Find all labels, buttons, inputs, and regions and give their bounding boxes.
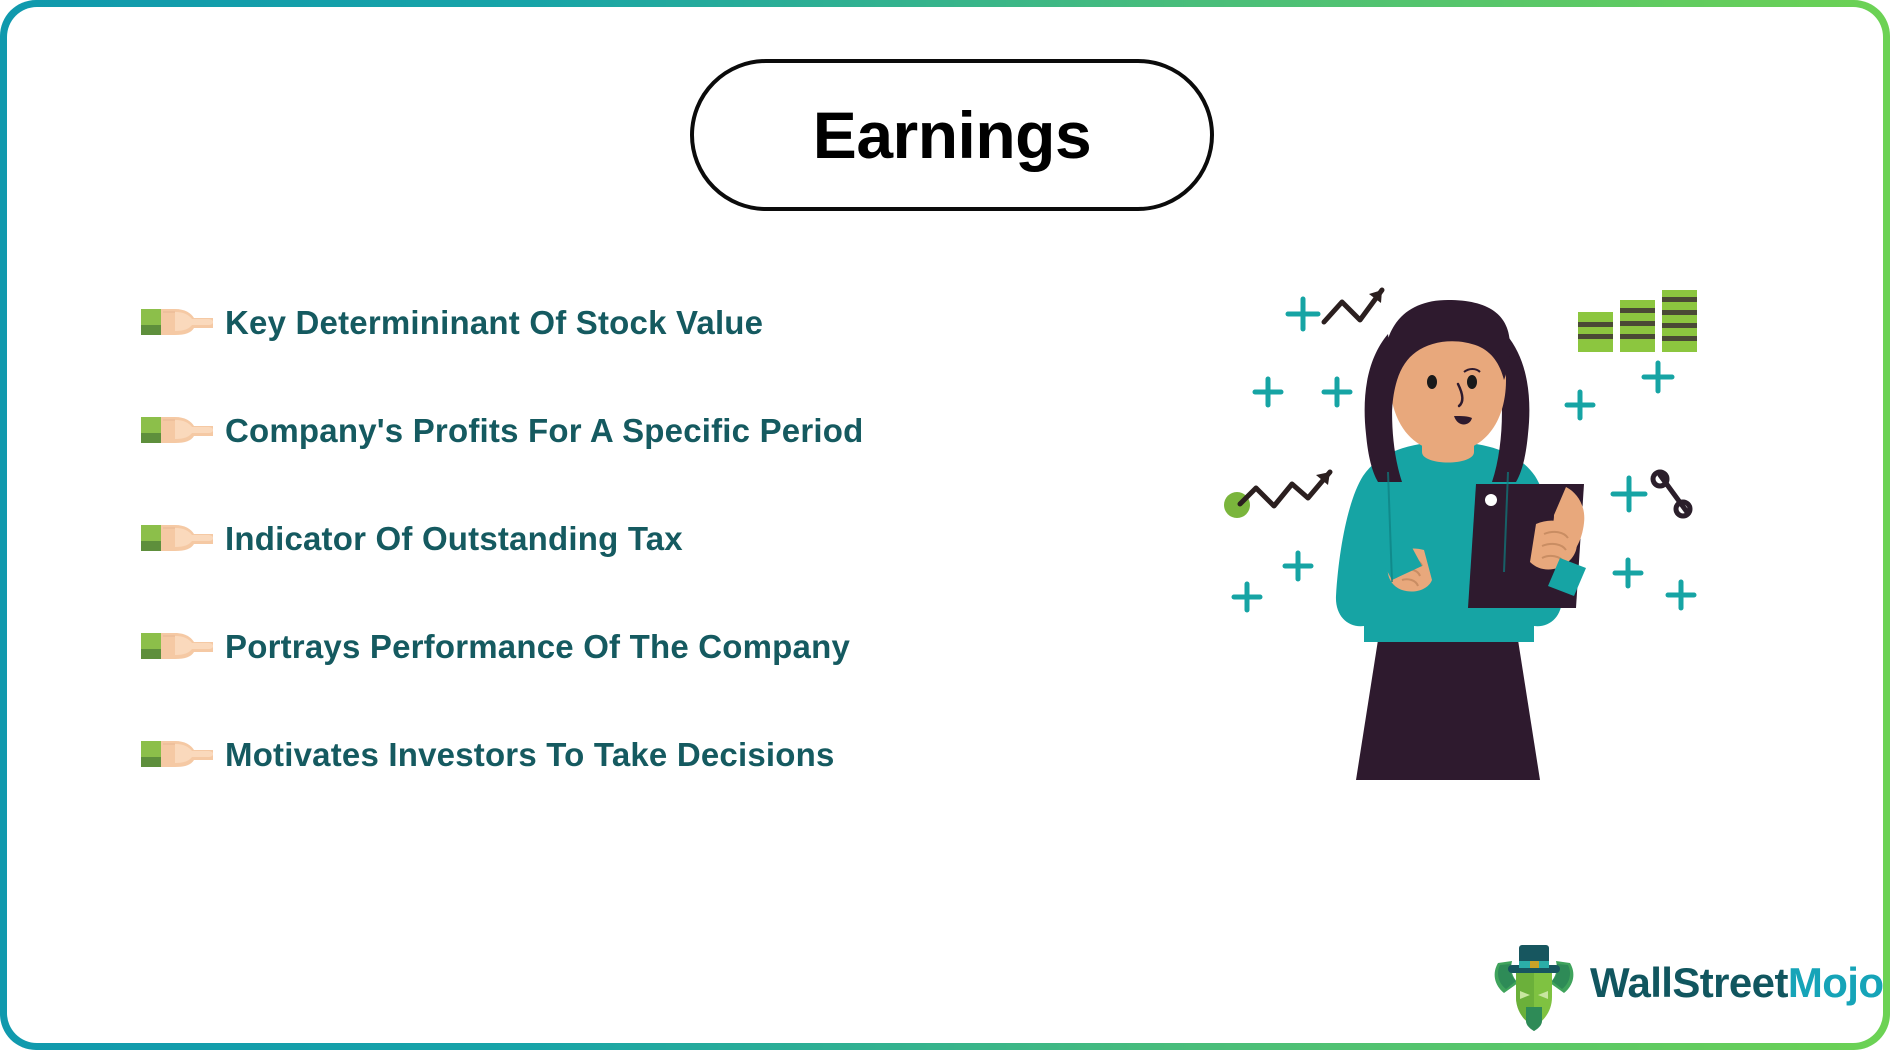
wallstreetmojo-logo[interactable]: WallStreetMojo	[1486, 932, 1846, 1034]
list-item-label: Company's Profits For A Specific Period	[225, 412, 864, 450]
list-item-label: Portrays Performance Of The Company	[225, 628, 850, 666]
logo-wordmark: WallStreetMojo	[1590, 959, 1883, 1007]
list-item-label: Motivates Investors To Take Decisions	[225, 736, 835, 774]
pointing-hand-right-icon	[139, 619, 213, 675]
eye-right	[1467, 375, 1477, 389]
logo-text-primary: WallStreet	[1590, 959, 1788, 1006]
list-item: Key Determininant Of Stock Value	[139, 269, 1099, 377]
skirt	[1356, 640, 1540, 780]
bull-with-top-hat-icon	[1486, 935, 1582, 1031]
logo-text-accent: Mojo	[1788, 959, 1883, 1006]
pointing-hand-right-icon	[139, 727, 213, 783]
trend-arrow-with-dot	[1240, 472, 1330, 506]
list-item: Indicator Of Outstanding Tax	[139, 485, 1099, 593]
list-item-label: Key Determininant Of Stock Value	[225, 304, 763, 342]
woman-with-tablet-illustration	[1192, 272, 1702, 782]
list-item: Motivates Investors To Take Decisions	[139, 701, 1099, 809]
list-item: Portrays Performance Of The Company	[139, 593, 1099, 701]
bullet-list: Key Determininant Of Stock Value Company…	[139, 269, 1099, 809]
money-stacks	[1578, 290, 1697, 352]
slide-canvas: Earnings Key Determininant Of Stock Valu…	[7, 7, 1883, 1043]
title-pill: Earnings	[690, 59, 1214, 211]
list-item-label: Indicator Of Outstanding Tax	[225, 520, 683, 558]
pointing-hand-right-icon	[139, 511, 213, 567]
slide-frame: Earnings Key Determininant Of Stock Valu…	[0, 0, 1890, 1050]
pointing-hand-right-icon	[139, 295, 213, 351]
page-title: Earnings	[813, 102, 1091, 168]
percent-symbol	[1653, 472, 1690, 516]
trend-arrow-up-right	[1324, 290, 1382, 322]
pointing-hand-right-icon	[139, 403, 213, 459]
eye-left	[1427, 375, 1437, 389]
tablet-camera	[1485, 494, 1497, 506]
list-item: Company's Profits For A Specific Period	[139, 377, 1099, 485]
